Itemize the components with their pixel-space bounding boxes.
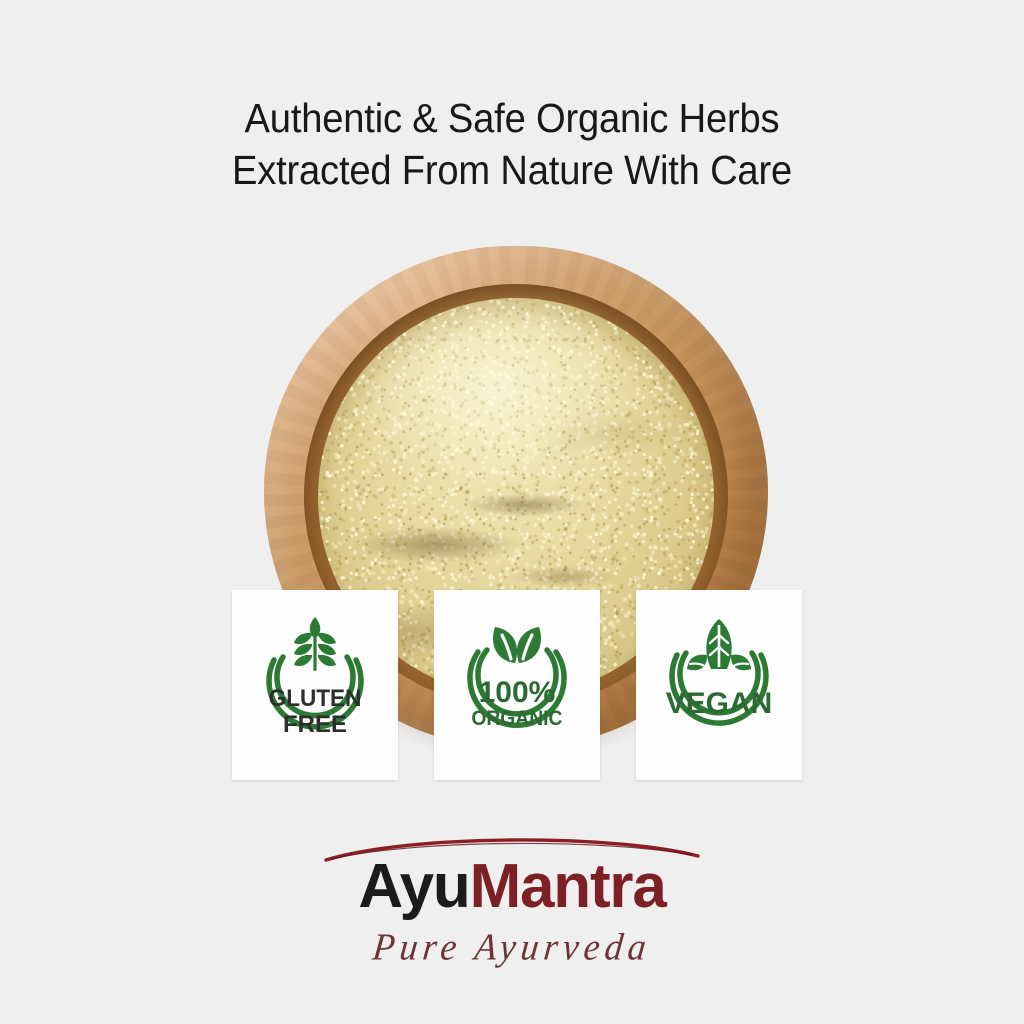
brand-name-part1: Ayu xyxy=(358,852,469,921)
certification-badges: GLUTEN FREE 100% ORGANIC xyxy=(232,590,804,782)
badge-gluten-free[interactable]: GLUTEN FREE xyxy=(232,590,398,780)
badge-gluten-free-line1: GLUTEN xyxy=(269,684,362,711)
brand-wordmark: AyuMantra xyxy=(0,850,1024,924)
headline-line-2: Extracted From Nature With Care xyxy=(36,144,988,196)
wheat-stalk-icon xyxy=(294,617,336,671)
badge-organic-line2: ORGANIC xyxy=(471,707,562,730)
organic-seal: 100% ORGANIC xyxy=(447,605,587,765)
promo-banner: Authentic & Safe Organic Herbs Extracted… xyxy=(0,0,1024,1024)
two-leaves-icon xyxy=(493,627,541,663)
brand-logo: AyuMantra Pure Ayurveda xyxy=(0,836,1024,968)
badge-vegan[interactable]: VEGAN xyxy=(636,590,802,780)
three-leaves-icon xyxy=(687,619,751,670)
vegan-seal: VEGAN xyxy=(649,605,789,765)
page-title: Authentic & Safe Organic Herbs Extracted… xyxy=(36,92,988,196)
brand-name-part2: Mantra xyxy=(470,852,666,921)
gluten-free-seal: GLUTEN FREE xyxy=(245,605,385,765)
brand-tagline: Pure Ayurveda xyxy=(0,925,1024,970)
badge-100-organic[interactable]: 100% ORGANIC xyxy=(434,590,600,780)
badge-organic-line1: 100% xyxy=(479,676,556,709)
badge-vegan-label: VEGAN xyxy=(666,687,773,720)
headline-line-1: Authentic & Safe Organic Herbs xyxy=(36,92,988,144)
badge-gluten-free-line2: FREE xyxy=(283,711,347,738)
